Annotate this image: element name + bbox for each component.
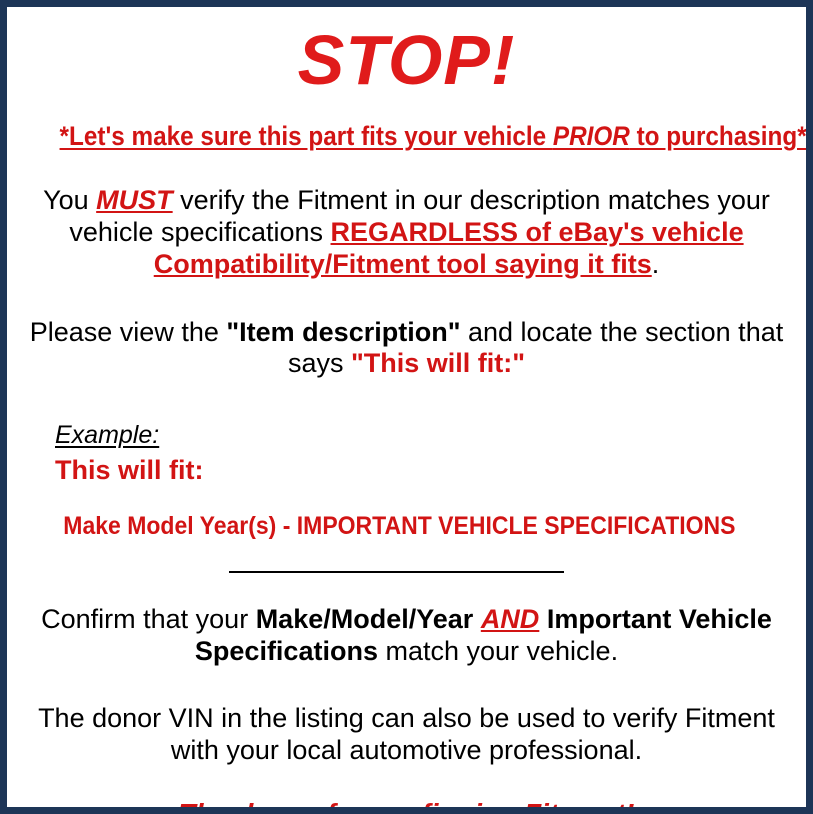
- subtitle-banner: *Let's make sure this part fits your veh…: [60, 95, 754, 152]
- example-label-row: Example:: [55, 420, 792, 450]
- example-this-will-fit-heading: This will fit:: [55, 450, 792, 486]
- para3-space-b: [539, 604, 547, 634]
- para1-emphasis-must: MUST: [96, 185, 173, 215]
- notice-content: STOP! *Let's make sure this part fits yo…: [7, 7, 806, 807]
- example-block: Example: This will fit: Make Model Year(…: [21, 380, 792, 540]
- para2-quote-item-description: "Item description": [226, 317, 460, 347]
- para3-segment-1: Confirm that your: [41, 604, 256, 634]
- subtitle-lead-text: *Let's make sure this part fits your veh…: [60, 121, 553, 151]
- subtitle-emphasis-prior: PRIOR: [553, 121, 630, 151]
- page-title: STOP!: [21, 7, 792, 95]
- example-vehicle-spec-line: Make Model Year(s) - IMPORTANT VEHICLE S…: [55, 487, 733, 541]
- para3-emphasis-and: AND: [481, 604, 540, 634]
- divider-wrapper: [21, 541, 792, 573]
- para1-segment-1: You: [43, 185, 96, 215]
- para3-space-a: [473, 604, 481, 634]
- example-label: Example:: [55, 420, 159, 450]
- para1-segment-5: .: [652, 249, 660, 279]
- paragraph-verify-fitment: You MUST verify the Fitment in our descr…: [27, 152, 787, 281]
- closing-thank-you: Thank you for confirming Fitment!: [21, 767, 792, 814]
- paragraph-donor-vin: The donor VIN in the listing can also be…: [27, 667, 787, 767]
- para3-segment-5: match your vehicle.: [378, 636, 618, 666]
- paragraph-item-description: Please view the "Item description" and l…: [27, 281, 787, 381]
- para2-segment-1: Please view the: [30, 317, 227, 347]
- paragraph-confirm-match: Confirm that your Make/Model/Year AND Im…: [27, 573, 787, 668]
- fitment-notice-card: STOP! *Let's make sure this part fits yo…: [0, 0, 813, 814]
- para3-emphasis-make-model-year: Make/Model/Year: [256, 604, 474, 634]
- subtitle-tail-text: to purchasing*: [630, 121, 807, 151]
- para2-quote-this-will-fit: "This will fit:": [351, 348, 525, 378]
